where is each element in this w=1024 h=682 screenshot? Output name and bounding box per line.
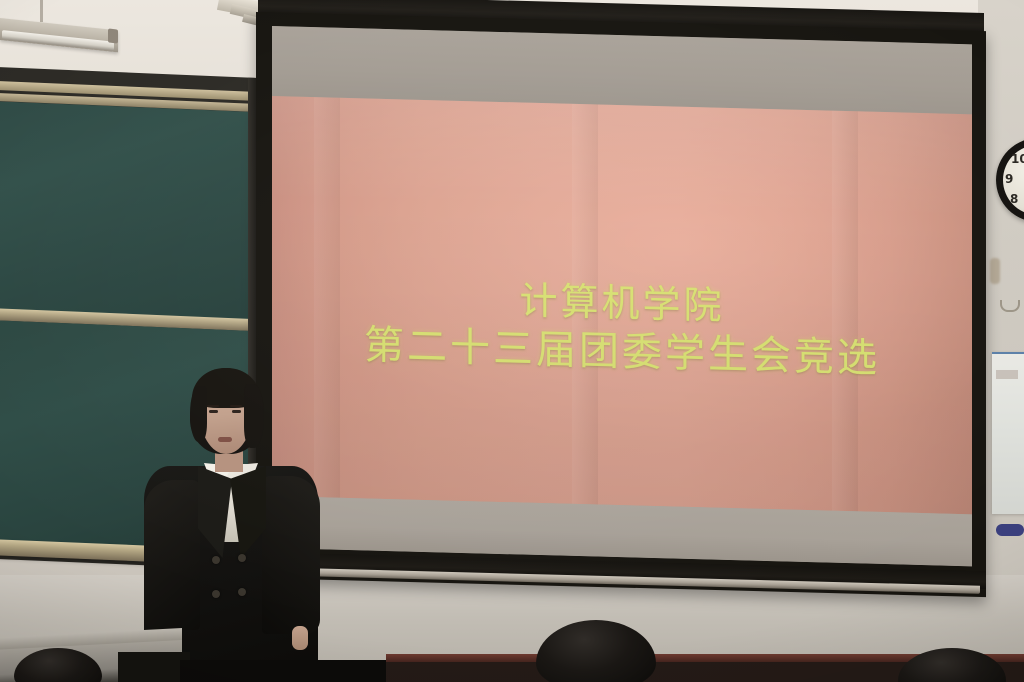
poster-badge (996, 524, 1024, 536)
screen-crease-3 (832, 111, 858, 512)
light-suspension-rod (40, 0, 43, 22)
slide-title-line-2: 第二十三届团委学生会竞选 (364, 320, 880, 385)
presenter-coat-button (212, 556, 220, 564)
clock-number-10: 10 (1011, 152, 1024, 166)
wall-hook-icon (1000, 300, 1020, 312)
presenter-hand (292, 626, 308, 650)
clock-number-8: 8 (1010, 192, 1018, 206)
presenter-eyebrow-left (207, 405, 219, 407)
presenter-right-sleeve (262, 476, 320, 634)
presenter-hair-left (190, 386, 207, 442)
center-desk-shadow (180, 660, 390, 682)
presenter-mouth (218, 437, 232, 442)
presenter-eye-left (209, 410, 218, 413)
presenter-coat-button (238, 554, 246, 562)
classroom-scene: 计算机学院 第二十三届团委学生会竞选 10 9 8 (0, 0, 1024, 682)
light-endcap (108, 28, 118, 43)
projected-slide-area: 计算机学院 第二十三届团委学生会竞选 (272, 96, 972, 514)
slide-title-line-1: 计算机学院 (519, 278, 724, 330)
wall-smudge (990, 258, 1000, 284)
presenter-eyebrow-right (230, 405, 242, 407)
poster-text-mark (996, 370, 1018, 379)
slide-text-block: 计算机学院 第二十三届团委学生会竞选 (272, 96, 972, 514)
presenter-left-sleeve (144, 480, 200, 630)
screen-crease-2 (572, 104, 598, 505)
presenter-hair-right (244, 384, 264, 448)
presenter-coat-button (238, 588, 246, 596)
projection-screen-surface: 计算机学院 第二十三届团委学生会竞选 (272, 26, 972, 566)
clock-number-9: 9 (1005, 172, 1013, 186)
blackboard-surface-upper (0, 101, 252, 320)
presenter-eye-right (232, 410, 241, 413)
presenter-coat-button (212, 590, 220, 598)
